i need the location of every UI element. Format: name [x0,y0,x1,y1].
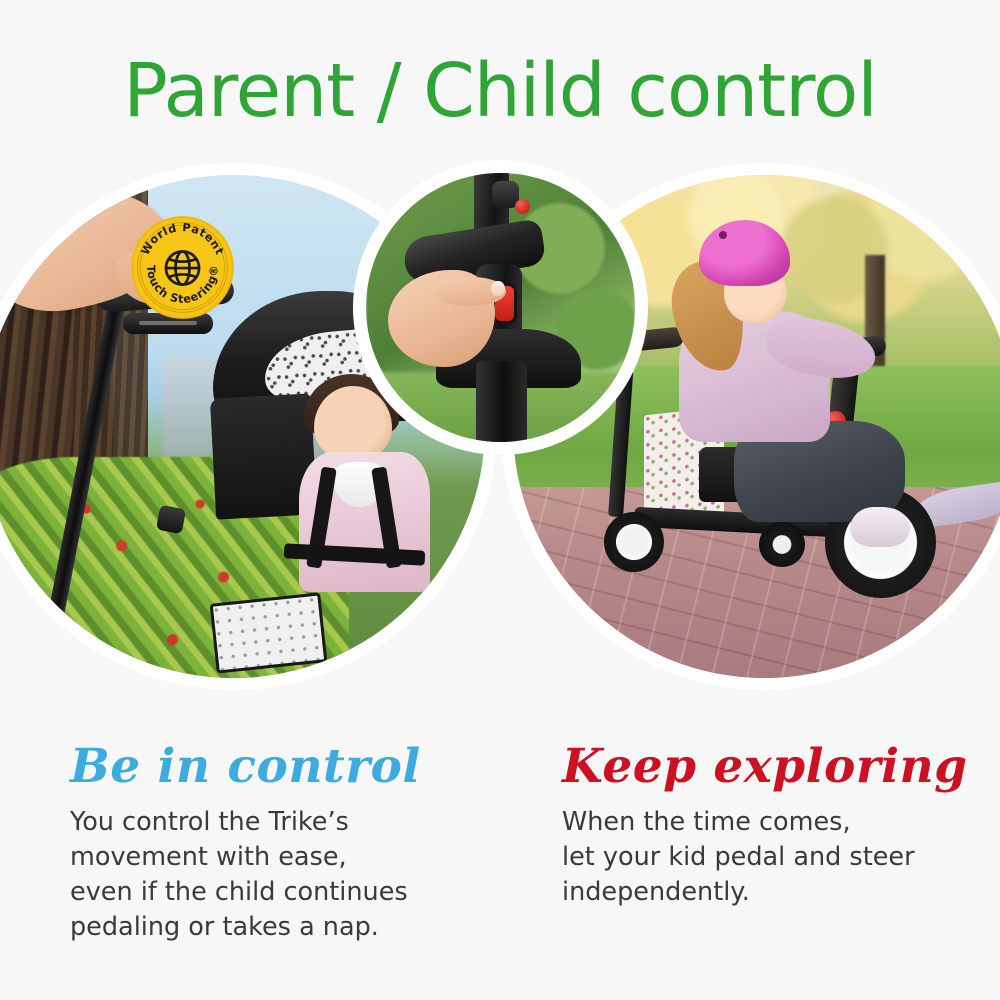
marketing-image-root: Parent / Child control [0,0,1000,1000]
steering-lower-stem [476,361,527,442]
mid-wheel [759,522,804,567]
page-title: Parent / Child control [0,48,1000,134]
trike-footboard [210,592,327,674]
world-patent-badge: World Patent Touch Steering® [129,214,236,321]
column-heading-keep-exploring: Keep exploring [562,742,992,791]
upper-red-knob [515,199,530,214]
rear-wheel [604,512,664,572]
column-heading-be-in-control: Be in control [70,742,500,791]
fingernail [491,281,504,296]
column-be-in-control: Be in control You control the Trike’s mo… [70,742,500,945]
push-pole-joint [156,505,186,535]
column-body-keep-exploring: When the time comes, let your kid pedal … [562,805,992,910]
badge-globe-icon [166,251,199,284]
child-shoe [850,507,910,547]
column-keep-exploring: Keep exploring When the time comes, let … [562,742,992,910]
photo-touch-steering-button-image [366,173,635,442]
photo-touch-steering-button [353,160,648,455]
column-body-be-in-control: You control the Trike’s movement with ea… [70,805,500,945]
